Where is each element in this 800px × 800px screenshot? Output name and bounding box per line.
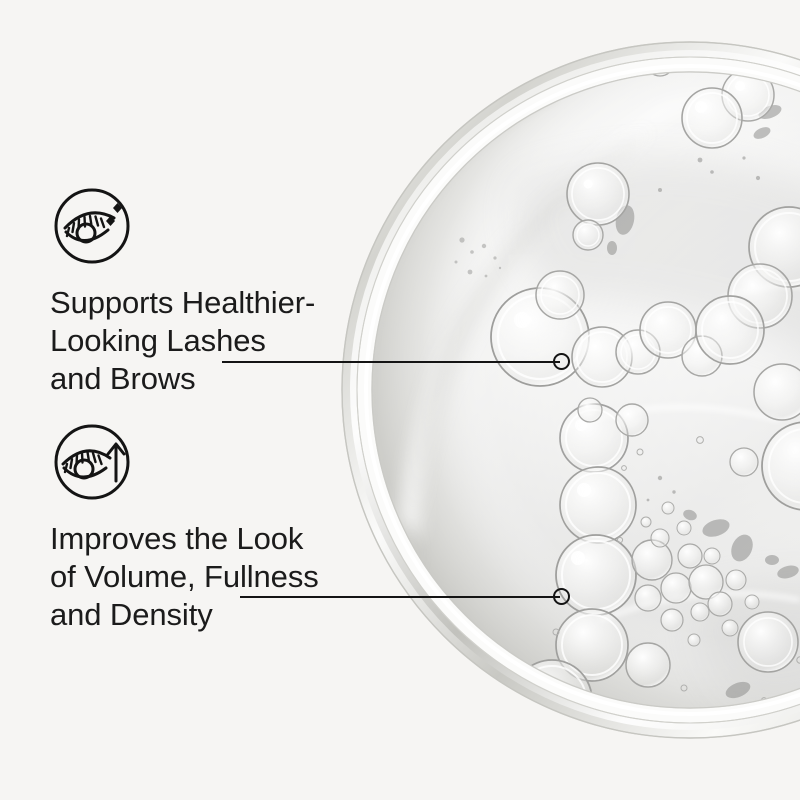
eye-with-lashes-and-sparkles-icon bbox=[50, 188, 134, 272]
feature-text: Improves the Look of Volume, Fullness an… bbox=[50, 520, 319, 634]
eye-with-lashes-and-up-arrow-icon bbox=[50, 424, 134, 508]
feature-block-lashes-and-brows: Supports Healthier- Looking Lashes and B… bbox=[50, 188, 315, 398]
feature-text: Supports Healthier- Looking Lashes and B… bbox=[50, 284, 315, 398]
feature-block-volume-fullness-density: Improves the Look of Volume, Fullness an… bbox=[50, 424, 319, 634]
petri-dish-image bbox=[0, 0, 800, 800]
product-benefit-graphic: Supports Healthier- Looking Lashes and B… bbox=[0, 0, 800, 800]
